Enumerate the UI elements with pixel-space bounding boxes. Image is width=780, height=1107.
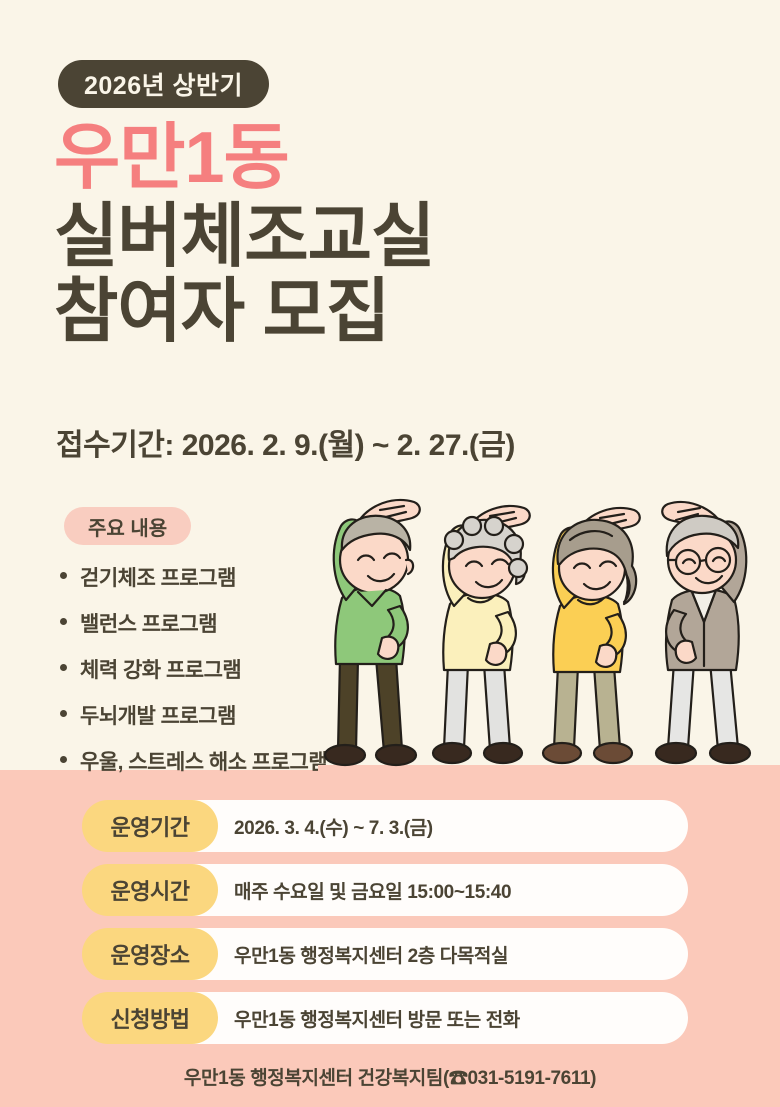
info-row-value: 우만1동 행정복지센터 2층 다목적실 [234,928,508,980]
info-row-key: 운영기간 [82,800,218,852]
figure-1-man-green [325,500,420,765]
info-row-application-method: 신청방법 우만1동 행정복지센터 방문 또는 전화 [0,992,780,1044]
figure-3-woman-yellow [543,508,640,763]
poster-root: 2026년 상반기 우만1동 실버체조교실 참여자 모집 접수기간: 2026.… [0,0,780,1107]
info-row-value: 매주 수요일 및 금요일 15:00~15:40 [234,864,511,916]
registration-period-text: 접수기간: 2026. 2. 9.(월) ~ 2. 27.(금) [56,420,515,464]
list-item: 걷기체조 프로그램 [58,562,327,592]
elderly-exercise-illustration: .ol { stroke:#231f1a; stroke-width:2.2; … [318,488,780,780]
program-list: 걷기체조 프로그램 밸런스 프로그램 체력 강화 프로그램 두뇌개발 프로그램 … [58,562,327,792]
list-item: 밸런스 프로그램 [58,608,327,638]
info-row-location: 운영장소 우만1동 행정복지센터 2층 다목적실 [0,928,780,980]
figure-2-woman-cream [433,506,530,763]
info-rows: 운영기간 2026. 3. 4.(수) ~ 7. 3.(금) 운영시간 매주 수… [0,800,780,1056]
title-accent-line: 우만1동 [54,122,434,194]
footer-contact: 우만1동 행정복지센터 건강복지팀(☎031-5191-7611) [0,1063,780,1090]
info-row-operating-period: 운영기간 2026. 3. 4.(수) ~ 7. 3.(금) [0,800,780,852]
info-row-operating-time: 운영시간 매주 수요일 및 금요일 15:00~15:40 [0,864,780,916]
figure-4-man-taupe [656,502,750,763]
title-line-2: 실버체조교실 [54,202,434,271]
info-row-value: 2026. 3. 4.(수) ~ 7. 3.(금) [234,800,433,852]
main-content-badge-label: 주요 내용 [88,512,167,541]
list-item: 두뇌개발 프로그램 [58,700,327,730]
title-block: 우만1동 실버체조교실 참여자 모집 [54,122,434,345]
title-line-3: 참여자 모집 [54,277,434,346]
period-badge-label: 2026년 상반기 [84,66,243,102]
info-row-key: 운영장소 [82,928,218,980]
main-content-badge: 주요 내용 [64,507,191,545]
period-badge: 2026년 상반기 [58,60,269,108]
info-row-key: 운영시간 [82,864,218,916]
list-item: 체력 강화 프로그램 [58,654,327,684]
info-row-value: 우만1동 행정복지센터 방문 또는 전화 [234,992,520,1044]
info-row-key: 신청방법 [82,992,218,1044]
list-item: 우울, 스트레스 해소 프로그램 [58,746,327,776]
